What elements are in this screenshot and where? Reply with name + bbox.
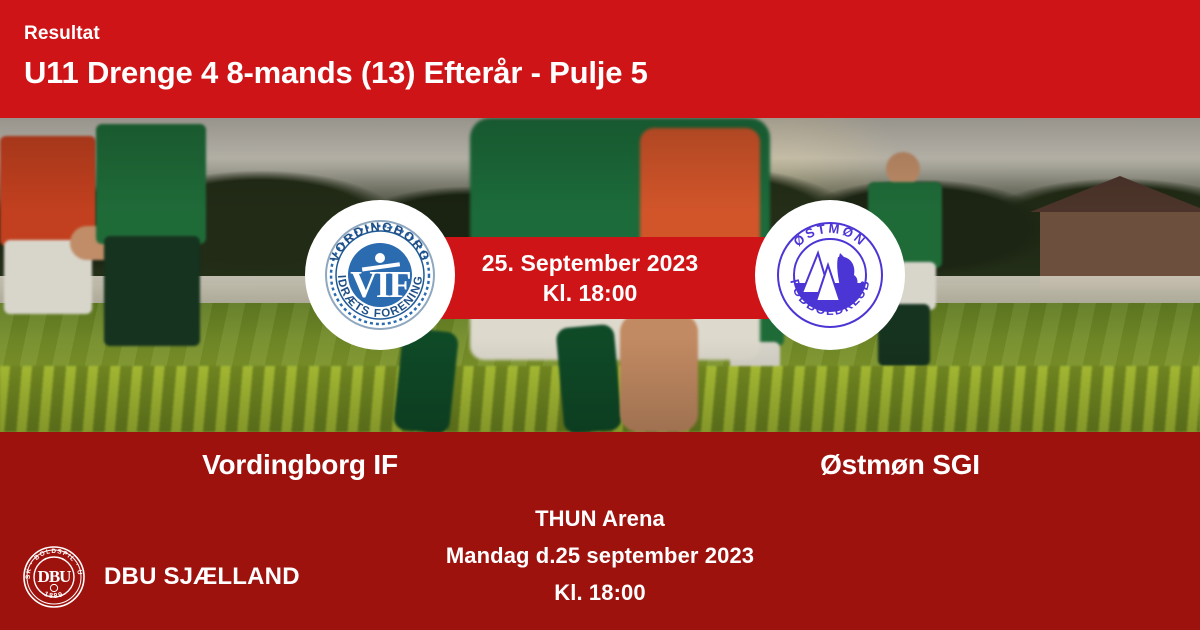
home-team-name: Vordingborg IF [0,432,600,498]
match-date: 25. September 2023 [482,248,699,278]
page-title: U11 Drenge 4 8-mands (13) Efterår - Pulj… [24,52,1176,94]
dbu-logo-icon: DANSK · BOLDSPIL · UNION 1889 DBU [22,545,86,609]
vordingborg-if-logo-icon: VORDINGBORG IDRÆTS FORENING VIF [318,213,442,337]
svg-text:VIF: VIF [350,264,410,306]
footer-organisation: DBU SJÆLLAND [104,563,300,591]
match-venue: THUN Arena [0,500,1200,537]
away-team-crest: ØSTMØN FODBOLDKLUB [755,200,905,350]
ostmon-fodboldklub-logo-icon: ØSTMØN FODBOLDKLUB [768,213,892,337]
match-result-poster: Resultat U11 Drenge 4 8-mands (13) Efter… [0,0,1200,630]
header-kicker: Resultat [24,22,1176,46]
away-team-name: Østmøn SGI [600,432,1200,498]
home-team-crest: VORDINGBORG IDRÆTS FORENING VIF [305,200,455,350]
svg-text:1889: 1889 [43,591,65,600]
match-time: Kl. 18:00 [543,278,638,308]
svg-text:DBU: DBU [38,567,72,586]
team-names-row: Vordingborg IF Østmøn SGI [0,432,1200,498]
poster-header: Resultat U11 Drenge 4 8-mands (13) Efter… [0,0,1200,118]
footer: DANSK · BOLDSPIL · UNION 1889 DBU DBU SJ… [22,545,300,609]
